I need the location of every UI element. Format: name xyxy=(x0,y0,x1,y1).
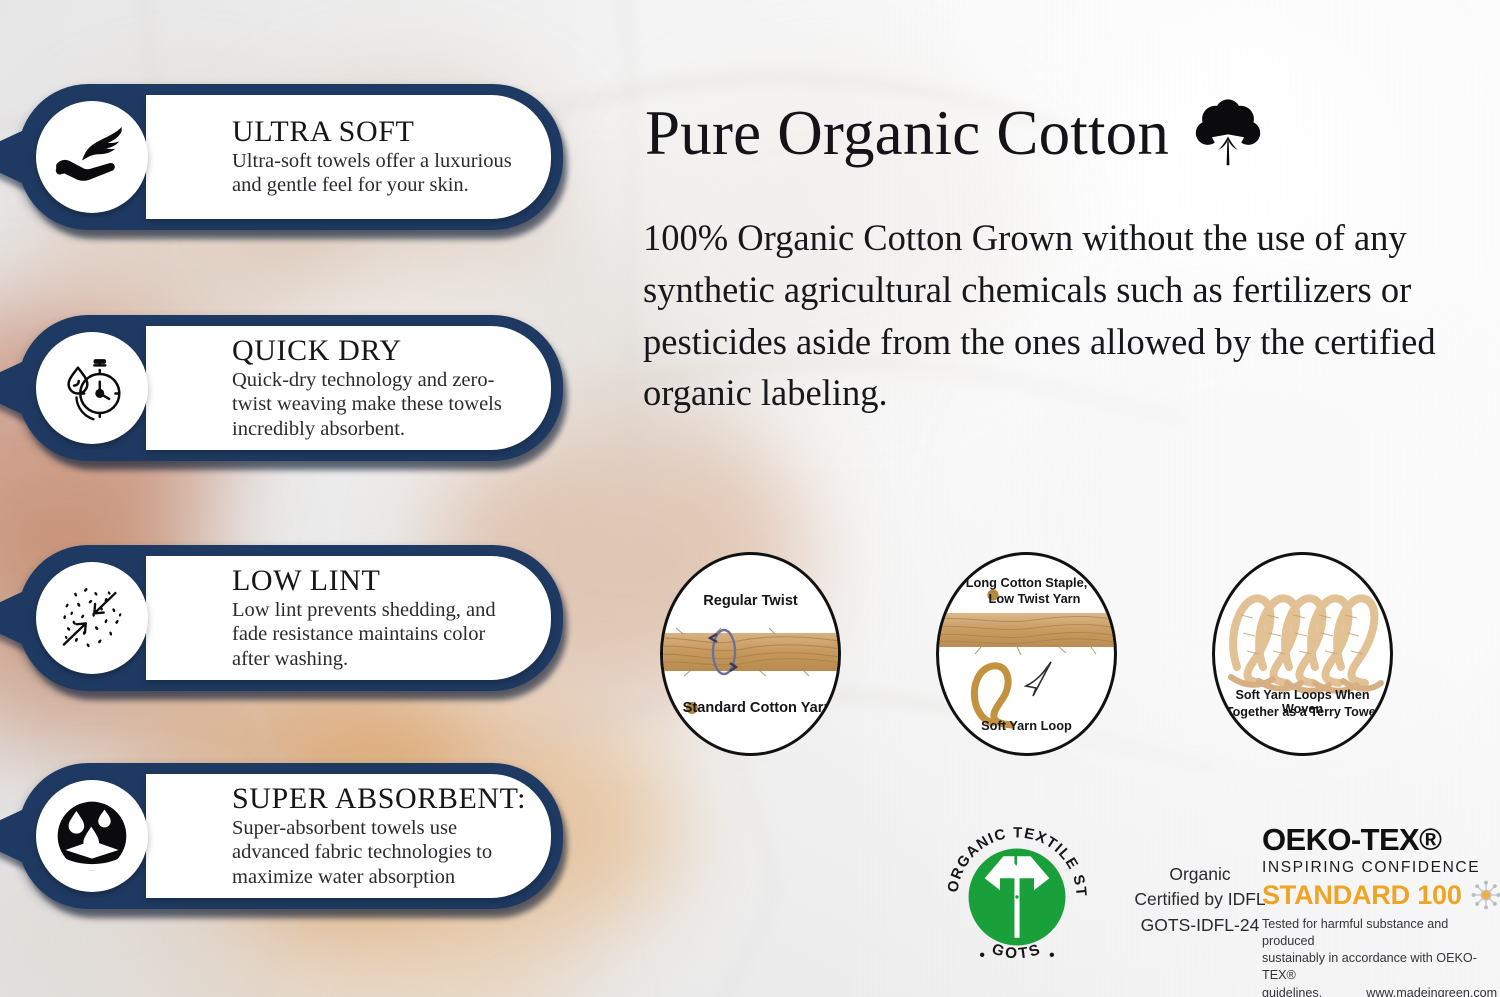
card-tail xyxy=(0,361,24,415)
yarn-diagram-group: Regular Twist Standard Cotton Yarn xyxy=(640,552,1500,762)
oekotex-brand: OEKO-TEX® xyxy=(1262,824,1500,855)
diagram-top-label-2: Low Twist Yarn xyxy=(939,591,1114,606)
water-drops-fabric-icon xyxy=(36,780,148,892)
terry-loops-diagram: Soft Yarn Loops When Woven Together as a… xyxy=(1212,552,1393,756)
feature-title: LOW LINT xyxy=(232,565,525,597)
cert-line-1: Organic xyxy=(1120,862,1280,887)
feature-card-list: ULTRA SOFT Ultra-soft towels offer a lux… xyxy=(0,0,600,997)
page-title: Pure Organic Cotton xyxy=(645,102,1169,165)
feature-description: Super-absorbent towels use advanced fabr… xyxy=(232,816,525,890)
oekotex-standard-row: STANDARD 100 xyxy=(1262,880,1500,910)
card-text-plate: ULTRA SOFT Ultra-soft towels offer a lux… xyxy=(146,95,551,219)
low-twist-diagram: Long Cotton Staple, Low Twist Yarn Soft … xyxy=(936,552,1117,756)
card-body: LOW LINT Low lint prevents shedding, and… xyxy=(18,545,563,691)
feather-in-hand-icon xyxy=(36,101,148,213)
card-body: ULTRA SOFT Ultra-soft towels offer a lux… xyxy=(18,84,563,230)
oekotex-fineprint: Tested for harmful substance and produce… xyxy=(1262,916,1500,997)
hero-paragraph: 100% Organic Cotton Grown without the us… xyxy=(643,212,1473,419)
diagram-top-label: Regular Twist xyxy=(663,593,838,609)
feature-title: QUICK DRY xyxy=(232,335,525,367)
water-drop-stopwatch-icon xyxy=(36,332,148,444)
diagram-top-label-1: Long Cotton Staple, xyxy=(939,575,1114,590)
card-body: SUPER ABSORBENT: Super-absorbent towels … xyxy=(18,763,563,909)
infographic-canvas: ULTRA SOFT Ultra-soft towels offer a lux… xyxy=(0,0,1500,997)
diagram-bottom-label: Soft Yarn Loop xyxy=(939,718,1114,733)
gots-logo-icon: GLOBAL ORGANIC TEXTILE STANDARD GOTS xyxy=(932,812,1102,982)
oekotex-snowflake-icon xyxy=(1471,880,1500,910)
card-tail xyxy=(0,809,24,863)
cert-line-3: GOTS-IDFL-24 xyxy=(1120,913,1280,938)
certification-group: GLOBAL ORGANIC TEXTILE STANDARD GOTS Org… xyxy=(640,800,1500,990)
lint-particles-arrows-icon xyxy=(36,562,148,674)
card-body: QUICK DRY Quick-dry technology and zero-… xyxy=(18,315,563,461)
feature-description: Quick-dry technology and zero-twist weav… xyxy=(232,368,525,442)
feature-card[interactable]: QUICK DRY Quick-dry technology and zero-… xyxy=(18,315,563,461)
fineprint-line-1: Tested for harmful substance and produce… xyxy=(1262,916,1500,950)
fineprint-line-2: sustainably in accordance with OEKO-TEX® xyxy=(1262,950,1500,984)
gots-certification-details: Organic Certified by IDFL GOTS-IDFL-24 xyxy=(1120,862,1280,938)
card-tail xyxy=(0,130,24,184)
card-text-plate: SUPER ABSORBENT: Super-absorbent towels … xyxy=(146,774,551,898)
cert-line-2: Certified by IDFL xyxy=(1120,887,1280,912)
feature-description: Ultra-soft towels offer a luxurious and … xyxy=(232,149,525,198)
feature-card[interactable]: ULTRA SOFT Ultra-soft towels offer a lux… xyxy=(18,84,563,230)
feature-card[interactable]: SUPER ABSORBENT: Super-absorbent towels … xyxy=(18,763,563,909)
oekotex-tagline: INSPIRING CONFIDENCE xyxy=(1262,859,1500,877)
feature-title: SUPER ABSORBENT: xyxy=(232,783,525,815)
card-text-plate: QUICK DRY Quick-dry technology and zero-… xyxy=(146,326,551,450)
oekotex-url[interactable]: www.madeingreen.com xyxy=(1366,985,1497,997)
oekotex-badge: OEKO-TEX® INSPIRING CONFIDENCE STANDARD … xyxy=(1262,824,1500,997)
feature-description: Low lint prevents shedding, and fade res… xyxy=(232,598,525,672)
oekotex-standard-label: STANDARD 100 xyxy=(1262,882,1462,909)
card-tail xyxy=(0,591,24,645)
card-text-plate: LOW LINT Low lint prevents shedding, and… xyxy=(146,556,551,680)
diagram-bottom-label: Standard Cotton Yarn xyxy=(663,700,838,716)
right-column: Pure Organic Cotton 100% Organic Cotton … xyxy=(640,0,1500,997)
diagram-bottom-label-2: Together as a Terry Towel xyxy=(1215,705,1390,719)
feature-card[interactable]: LOW LINT Low lint prevents shedding, and… xyxy=(18,545,563,691)
standard-twist-diagram: Regular Twist Standard Cotton Yarn xyxy=(660,552,841,756)
hero-header: Pure Organic Cotton xyxy=(645,98,1263,168)
fineprint-line-3: guidelines. xyxy=(1262,985,1322,997)
cotton-boll-icon xyxy=(1193,98,1263,168)
feature-title: ULTRA SOFT xyxy=(232,116,525,148)
